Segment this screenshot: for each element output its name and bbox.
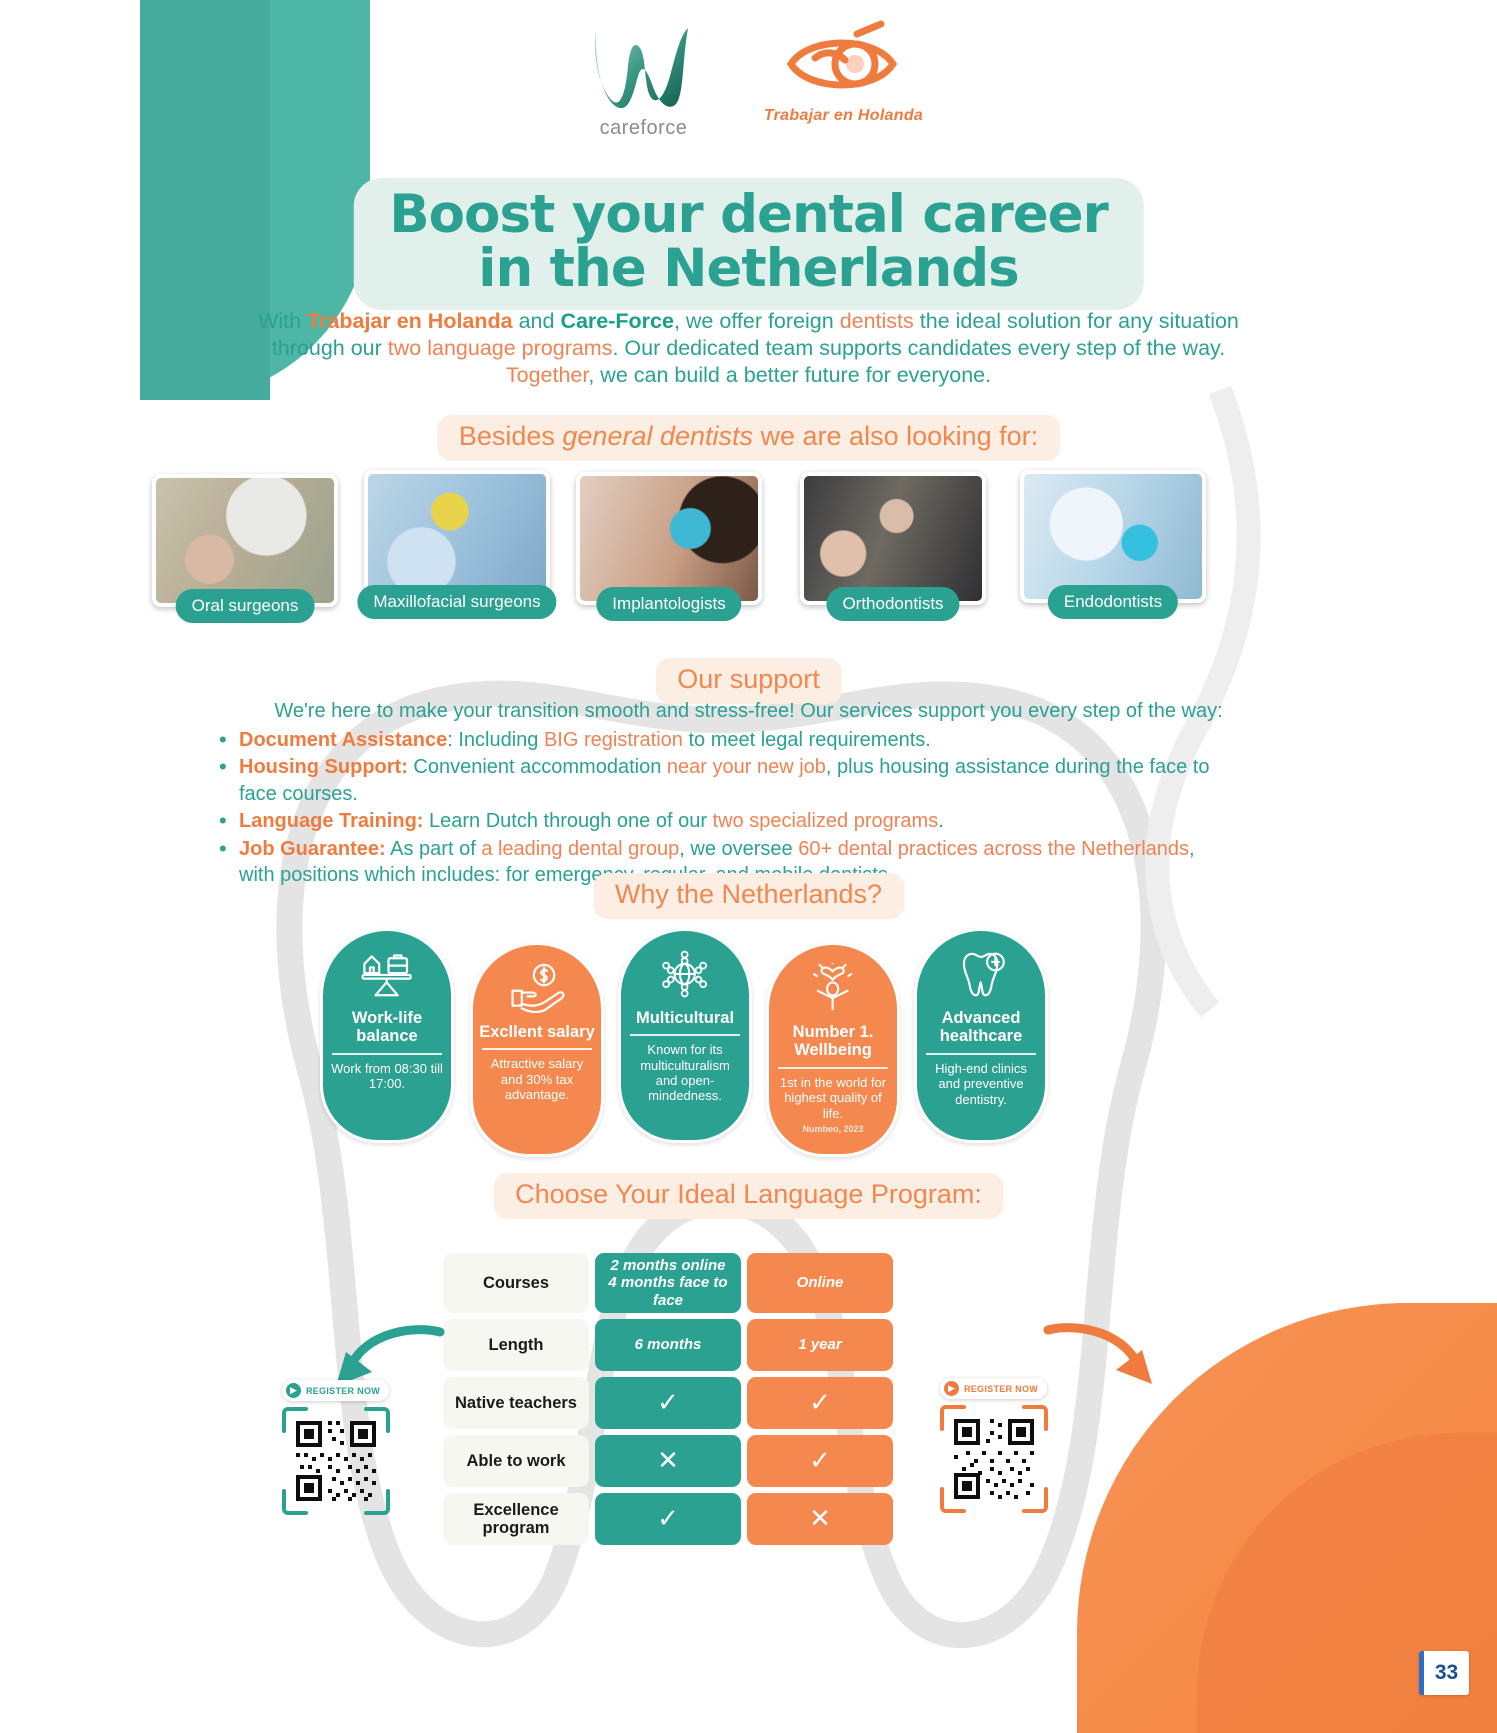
why-card-title: Number 1. Wellbeing — [769, 1023, 897, 1060]
qr-code-left[interactable] — [280, 1405, 392, 1517]
specialties-row: Oral surgeons Maxillofacial surgeons Imp… — [152, 470, 1212, 650]
endodontics-photo — [1020, 470, 1206, 603]
cell-orange-value: Online — [797, 1274, 844, 1291]
check-icon: ✓ — [809, 1388, 831, 1418]
trabajar-eye-tooth-mark-icon — [769, 18, 919, 106]
qr-code-right[interactable] — [938, 1403, 1050, 1515]
specialty-label: Maxillofacial surgeons — [357, 585, 556, 619]
support-item-highlight: near your new job — [667, 756, 826, 778]
row-label: Courses — [443, 1253, 589, 1313]
poster-page: careforce Trabajar en Holanda Boost your… — [0, 0, 1497, 1733]
careforce-wordmark: careforce — [574, 117, 714, 140]
check-icon: ✓ — [657, 1388, 679, 1418]
support-list: Document Assistance: Including BIG regis… — [215, 727, 1215, 889]
list-item: Language Training: Learn Dutch through o… — [215, 808, 1215, 834]
support-item-highlight: a leading dental group — [481, 838, 679, 860]
specialty-label: Implantologists — [596, 587, 741, 621]
cell-orange: ✓ — [747, 1377, 893, 1429]
divider — [332, 1053, 442, 1055]
divider — [482, 1048, 592, 1050]
support-intro-text: We're here to make your transition smoot… — [244, 700, 1254, 723]
table-row: Excellence program ✓ ✕ — [443, 1493, 893, 1545]
implantology-photo — [576, 472, 762, 605]
intro-text-3: , we offer foreign — [674, 309, 840, 333]
table-row: Length 6 months 1 year — [443, 1319, 893, 1371]
why-card-work-life-balance[interactable]: Work-life balance Work from 08:30 till 1… — [320, 928, 454, 1143]
maxillofacial-surgery-photo — [364, 470, 550, 603]
cell-teal: ✓ — [595, 1493, 741, 1545]
check-icon: ✓ — [657, 1504, 679, 1534]
play-arrow-icon: ▶ — [944, 1381, 959, 1396]
check-icon: ✓ — [809, 1446, 831, 1476]
qr-code-image-right — [938, 1403, 1050, 1515]
why-card-desc: Work from 08:30 till 17:00. — [323, 1061, 451, 1092]
qr-block-left[interactable]: ▶ REGISTER NOW — [278, 1380, 393, 1517]
support-item-text-a: Learn Dutch through one of our — [423, 810, 712, 832]
why-card-excellent-salary[interactable]: Excllent salary Attractive salary and 30… — [470, 942, 604, 1157]
cell-teal: 2 months online 4 months face to face — [595, 1253, 741, 1313]
cross-icon: ✕ — [657, 1446, 679, 1476]
tooth-plus-icon — [951, 949, 1010, 999]
orthodontics-photo — [800, 472, 986, 605]
cell-teal-value: 6 months — [635, 1336, 702, 1353]
row-label: Native teachers — [443, 1377, 589, 1429]
row-label: Able to work — [443, 1435, 589, 1487]
cell-orange: ✕ — [747, 1493, 893, 1545]
why-card-desc: High-end clinics and preventive dentistr… — [917, 1061, 1045, 1107]
support-item-lead: Job Guarantee: — [239, 838, 386, 860]
list-item: Housing Support: Convenient accommodatio… — [215, 754, 1215, 807]
program-heading: Choose Your Ideal Language Program: — [493, 1173, 1004, 1219]
qr-code-image-left — [280, 1405, 392, 1517]
support-heading: Our support — [655, 658, 842, 704]
support-item-lead: Language Training: — [239, 810, 423, 832]
specialties-heading-post: we are also looking for: — [753, 421, 1038, 451]
support-item-text-b: , we oversee — [679, 838, 798, 860]
why-card-advanced-healthcare[interactable]: Advanced healthcare High-end clinics and… — [914, 928, 1048, 1143]
headline-line-2: in the Netherlands — [389, 242, 1108, 296]
register-now-button-right[interactable]: ▶ REGISTER NOW — [940, 1378, 1047, 1399]
why-card-title: Excllent salary — [475, 1023, 599, 1041]
intro-hl-dentists: dentists — [840, 309, 914, 333]
support-item-highlight: two specialized programs — [713, 810, 939, 832]
specialty-card-orthodontists[interactable]: Orthodontists — [800, 472, 986, 605]
logo-bar: careforce Trabajar en Holanda — [0, 18, 1497, 140]
cross-icon: ✕ — [809, 1504, 831, 1534]
intro-text-2: and — [513, 309, 561, 333]
row-label: Length — [443, 1319, 589, 1371]
cell-teal: 6 months — [595, 1319, 741, 1371]
table-row: Native teachers ✓ ✓ — [443, 1377, 893, 1429]
table-row: Able to work ✕ ✓ — [443, 1435, 893, 1487]
why-card-title: Work-life balance — [323, 1009, 451, 1046]
page-title: Boost your dental career in the Netherla… — [353, 178, 1144, 310]
register-now-button-left[interactable]: ▶ REGISTER NOW — [282, 1380, 389, 1401]
why-card-title: Advanced healthcare — [917, 1009, 1045, 1046]
intro-text-6: , we can build a better future for every… — [588, 363, 991, 387]
divider — [778, 1067, 888, 1069]
specialty-card-endodontists[interactable]: Endodontists — [1020, 470, 1206, 603]
why-card-source: Numbeo, 2023 — [802, 1124, 863, 1134]
specialties-heading-emphasis: general dentists — [562, 421, 753, 451]
support-item-lead: Housing Support: — [239, 756, 408, 778]
intro-paragraph: With Trabajar en Holanda and Care-Force,… — [239, 308, 1259, 389]
trabajar-en-holanda-logo: Trabajar en Holanda — [764, 18, 924, 125]
cell-teal: ✓ — [595, 1377, 741, 1429]
specialties-heading: Besides general dentists we are also loo… — [437, 415, 1060, 461]
work-life-balance-icon — [357, 949, 416, 999]
page-number: 33 — [1419, 1651, 1469, 1695]
globe-people-icon — [655, 949, 714, 999]
why-card-wellbeing[interactable]: Number 1. Wellbeing 1st in the world for… — [766, 942, 900, 1157]
headline-line-1: Boost your dental career — [389, 184, 1108, 245]
specialties-heading-pre: Besides — [459, 421, 563, 451]
arrow-right-to-qr-icon — [1040, 1320, 1160, 1400]
specialty-label: Endodontists — [1048, 585, 1178, 619]
cell-orange: Online — [747, 1253, 893, 1313]
specialty-label: Oral surgeons — [176, 589, 315, 623]
list-item: Document Assistance: Including BIG regis… — [215, 727, 1215, 753]
row-label: Excellence program — [443, 1493, 589, 1545]
play-arrow-icon: ▶ — [286, 1383, 301, 1398]
trabajar-wordmark: Trabajar en Holanda — [764, 107, 924, 125]
divider — [926, 1053, 1036, 1055]
qr-block-right[interactable]: ▶ REGISTER NOW — [936, 1378, 1051, 1515]
intro-text-5: . Our dedicated team supports candidates… — [612, 336, 1225, 360]
support-item-text-b: to meet legal requirements. — [683, 729, 931, 751]
table-row: Courses 2 months online 4 months face to… — [443, 1253, 893, 1313]
register-now-label: REGISTER NOW — [964, 1384, 1038, 1394]
specialty-label: Orthodontists — [826, 587, 959, 621]
cell-orange: ✓ — [747, 1435, 893, 1487]
intro-brand-careforce: Care-Force — [560, 309, 674, 333]
cell-orange: 1 year — [747, 1319, 893, 1371]
specialty-card-oral-surgeons[interactable]: Oral surgeons — [152, 474, 338, 607]
divider — [630, 1034, 740, 1036]
oral-surgery-photo — [152, 474, 338, 607]
support-item-text-a: Convenient accommodation — [408, 756, 667, 778]
wellbeing-person-heart-icon — [803, 963, 862, 1013]
intro-hl-programs: two language programs — [388, 336, 613, 360]
hand-coin-icon — [507, 963, 566, 1013]
support-item-text-a: As part of — [386, 838, 482, 860]
careforce-logo: careforce — [574, 18, 714, 140]
careforce-mark-icon — [584, 18, 704, 110]
why-cards-row: Work-life balance Work from 08:30 till 1… — [320, 920, 1060, 1150]
cell-teal: ✕ — [595, 1435, 741, 1487]
support-item-text-a: : Including — [447, 729, 544, 751]
cell-teal-value: 2 months online 4 months face to face — [599, 1257, 737, 1309]
support-item-highlight-2: 60+ dental practices across the Netherla… — [798, 838, 1189, 860]
intro-text: With — [258, 309, 307, 333]
why-heading: Why the Netherlands? — [593, 873, 904, 919]
specialty-card-maxillofacial-surgeons[interactable]: Maxillofacial surgeons — [364, 470, 550, 603]
why-card-title: Multicultural — [632, 1009, 738, 1027]
why-card-desc: 1st in the world for highest quality of … — [769, 1075, 897, 1121]
register-now-label: REGISTER NOW — [306, 1386, 380, 1396]
why-card-multicultural[interactable]: Multicultural Known for its multicultura… — [618, 928, 752, 1143]
specialty-card-implantologists[interactable]: Implantologists — [576, 472, 762, 605]
intro-hl-together: Together — [506, 363, 588, 387]
why-card-desc: Known for its multiculturalism and open-… — [621, 1042, 749, 1103]
support-item-text-b: . — [938, 810, 944, 832]
why-card-desc: Attractive salary and 30% tax advantage. — [473, 1056, 601, 1102]
support-item-lead: Document Assistance — [239, 729, 447, 751]
program-comparison-table: Courses 2 months online 4 months face to… — [443, 1253, 893, 1551]
cell-orange-value: 1 year — [798, 1336, 841, 1353]
support-item-highlight: BIG registration — [544, 729, 683, 751]
intro-brand-trabajar: Trabajar en Holanda — [307, 309, 513, 333]
